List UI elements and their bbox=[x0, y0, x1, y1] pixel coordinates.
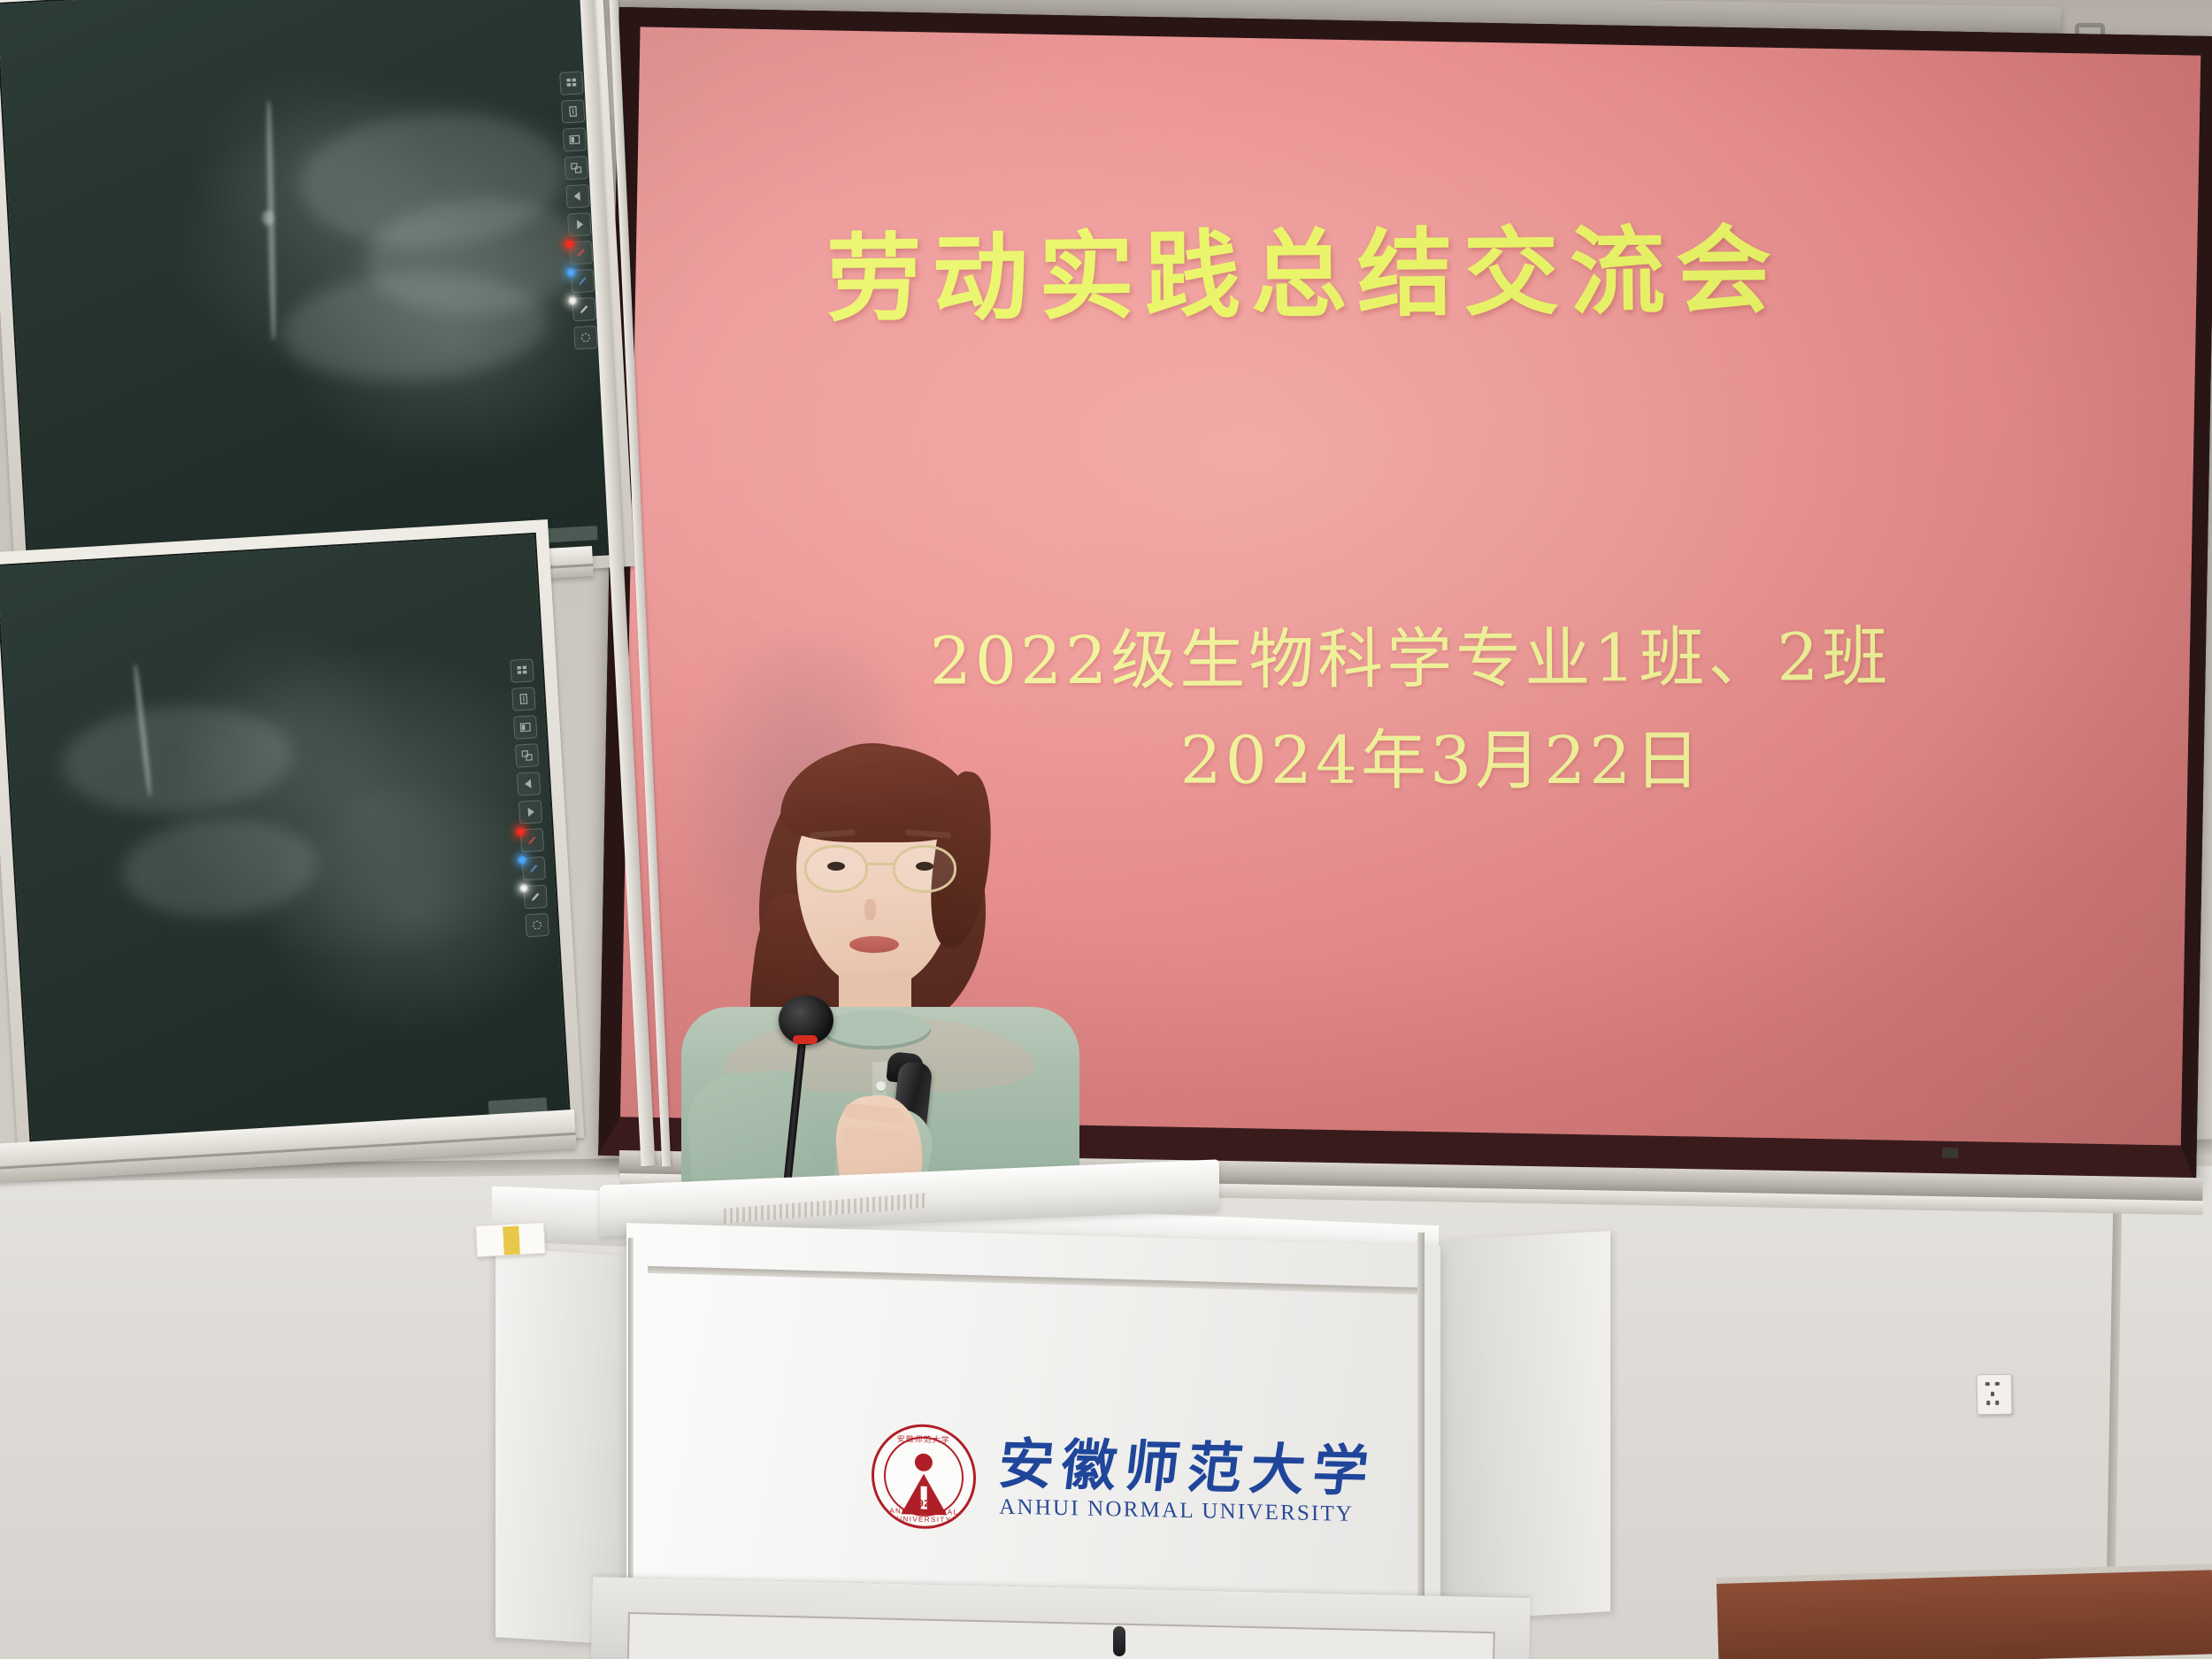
next-page-icon[interactable] bbox=[567, 212, 591, 236]
board-toolbar-lower[interactable] bbox=[510, 658, 549, 937]
mic-indicator-icon bbox=[793, 1035, 818, 1044]
layout-icon[interactable] bbox=[513, 715, 537, 739]
red-pen-icon[interactable] bbox=[569, 241, 593, 265]
menu-grid-icon[interactable] bbox=[510, 658, 534, 682]
university-crest-icon: 安徽师范大学 1928 ANHUI NORMAL UNIVERSITY bbox=[872, 1424, 977, 1530]
next-page-icon[interactable] bbox=[518, 800, 542, 824]
sticky-note bbox=[475, 1222, 546, 1257]
chalkboard-panel-upper bbox=[0, 0, 634, 601]
glasses-icon bbox=[803, 845, 958, 893]
university-name-cn: 安徽师范大学 bbox=[995, 1437, 1379, 1500]
shapes-icon[interactable] bbox=[564, 156, 588, 180]
chalkboard-panel-lower bbox=[0, 519, 584, 1171]
power-outlet-icon[interactable] bbox=[1977, 1374, 2013, 1416]
document-icon[interactable] bbox=[561, 99, 585, 123]
red-pen-icon[interactable] bbox=[520, 828, 544, 852]
mouth bbox=[849, 936, 899, 953]
nose bbox=[864, 899, 876, 920]
layout-icon[interactable] bbox=[563, 127, 587, 151]
classroom-photo: 劳动实践总结交流会 2022级生物科学专业1班、2班 2024年3月22日 bbox=[0, 0, 2212, 1659]
rail-clip bbox=[1942, 1148, 1958, 1158]
baseboard bbox=[1717, 1570, 2212, 1659]
prev-page-icon[interactable] bbox=[517, 772, 541, 795]
crest-arc-bottom-text: ANHUI NORMAL UNIVERSITY bbox=[874, 1507, 973, 1525]
lectern-seam-right bbox=[1417, 1233, 1425, 1631]
shapes-icon[interactable] bbox=[515, 743, 539, 767]
desk-handle-icon[interactable] bbox=[1113, 1626, 1125, 1656]
white-pen-icon[interactable] bbox=[523, 885, 547, 909]
sweater-collar bbox=[821, 1010, 931, 1049]
document-icon[interactable] bbox=[511, 687, 535, 710]
university-logo: 安徽师范大学 1928 ANHUI NORMAL UNIVERSITY 安徽师范… bbox=[872, 1414, 1333, 1548]
menu-grid-icon[interactable] bbox=[559, 71, 583, 95]
lectern-right-wing bbox=[1425, 1231, 1610, 1622]
eraser-icon[interactable] bbox=[573, 326, 597, 349]
eraser-icon[interactable] bbox=[525, 913, 549, 937]
crest-arc-top-text: 安徽师范大学 bbox=[874, 1432, 973, 1446]
white-pen-icon[interactable] bbox=[572, 297, 595, 321]
blue-pen-icon[interactable] bbox=[522, 856, 546, 880]
lectern-instruction-label bbox=[724, 1193, 927, 1224]
blue-pen-icon[interactable] bbox=[571, 269, 595, 293]
prev-page-icon[interactable] bbox=[565, 184, 589, 208]
